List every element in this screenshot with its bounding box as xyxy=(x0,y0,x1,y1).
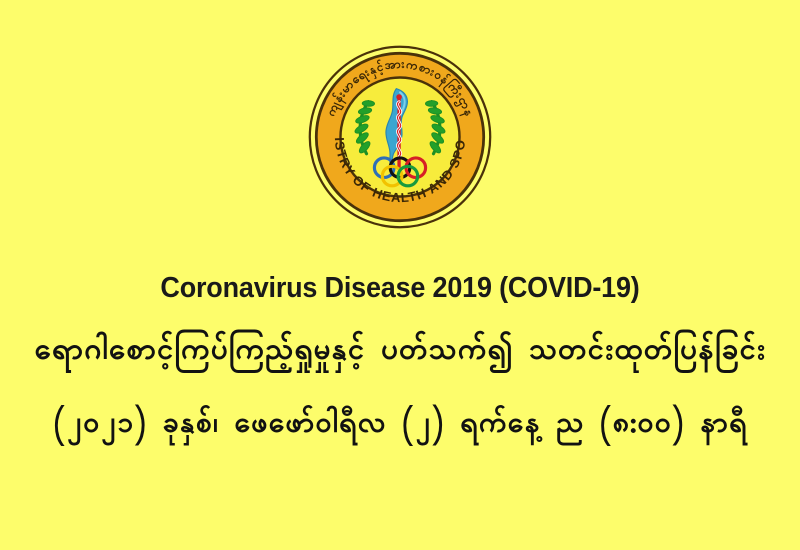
ministry-seal-icon: ကျန်းမာရေးနှင့်အားကစားဝန်ကြီးဌာန MINISTR… xyxy=(307,44,493,230)
english-title: Coronavirus Disease 2019 (COVID-19) xyxy=(28,272,772,304)
burmese-subject-line: ရောဂါစောင့်ကြပ်ကြည့်ရှုမှုနှင့် ပတ်သက်၍ … xyxy=(0,330,800,375)
headline-text-block: Coronavirus Disease 2019 (COVID-19) ရောဂ… xyxy=(0,272,800,447)
press-release-slide: ကျန်းမာရေးနှင့်အားကစားဝန်ကြီးဌာန MINISTR… xyxy=(0,0,800,550)
emblem-container: ကျန်းမာရေးနှင့်အားကစားဝန်ကြီးဌာန MINISTR… xyxy=(0,44,800,230)
burmese-datetime-line: (၂၀၂၁) ခုနှစ်၊ ဖေဖော်ဝါရီလ (၂) ရက်နေ့ ည … xyxy=(0,403,800,447)
